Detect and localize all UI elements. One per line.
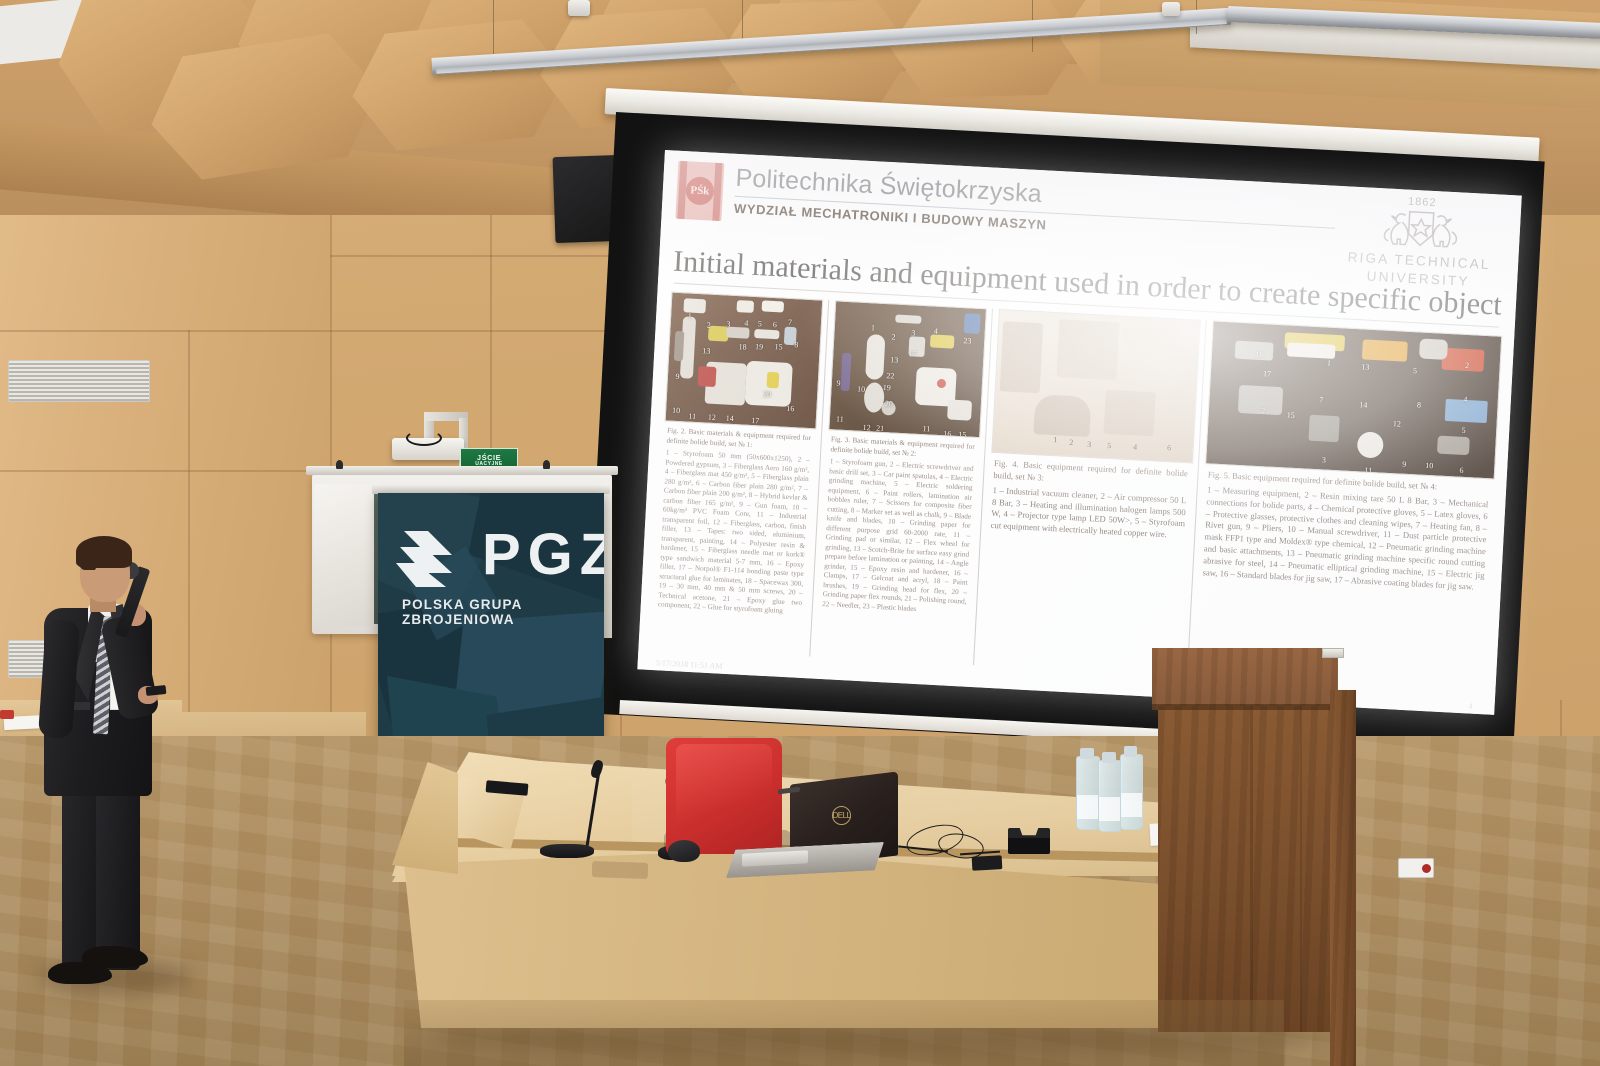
- figure-caption-4: Fig. 5. Basic equipment required for def…: [1199, 464, 1492, 594]
- wall-seam: [0, 330, 640, 332]
- figure-caption-2-body: 1 – Styrofoam gun, 2 – Electric screwdri…: [822, 457, 974, 612]
- tray-knob: [336, 460, 343, 469]
- figure-caption-3: Fig. 4. Basic equipment required for def…: [987, 453, 1191, 543]
- figure-photo-2: 12 34 2317 1322 1910 920 1112 2111 1615: [828, 300, 987, 438]
- lectern-nameplate: [1322, 648, 1344, 658]
- presenter: [26, 534, 226, 1004]
- pgz-tagline: POLSKA GRUPA ZBROJENIOWA: [402, 597, 604, 627]
- dell-logo-icon: DELL: [832, 806, 851, 825]
- figure-column-1: 12 34 56 78 910 1112 1417 1620 1318 1915…: [652, 292, 821, 656]
- bottle-cap: [1102, 752, 1116, 763]
- wall-wood-column: [1330, 690, 1356, 1066]
- figure-photo-4: 1617 113 52 47 148 1215 23 119 106 5: [1205, 320, 1502, 479]
- figure-caption-4-body: 1 – Measuring equipment, 2 – Resin mixin…: [1202, 484, 1488, 591]
- presenter-leg-right: [96, 772, 140, 970]
- ceiling-hex-panel: [889, 0, 1081, 98]
- water-bottle[interactable]: [1098, 760, 1122, 832]
- figure-caption-3-body: 1 – Industrial vacuum cleaner, 2 – Air c…: [990, 485, 1186, 540]
- figure-column-4: 1617 113 52 47 148 1215 23 119 106 5 Fig…: [1194, 320, 1500, 692]
- whiteboard-tray: [306, 466, 618, 475]
- pgz-wordmark: PGZ: [482, 521, 604, 588]
- air-vent: [8, 360, 150, 402]
- presenter-shoe-right: [82, 946, 148, 968]
- lectern-seam: [1152, 704, 1340, 710]
- pgz-logo-mark-icon: [394, 529, 476, 589]
- bottle-cap: [1124, 746, 1137, 757]
- wall-power-outlet[interactable]: [1398, 858, 1434, 878]
- desk-tray-recess: [592, 861, 649, 879]
- figure-column-3: 12 35 46 Fig. 4. Basic equipment require…: [980, 309, 1199, 676]
- lectern-body: [1158, 706, 1338, 1032]
- red-object: [0, 710, 14, 719]
- psk-logo-icon: PŚk: [675, 161, 724, 221]
- desk-microphone-base[interactable]: [540, 844, 594, 858]
- presenter-sideburn: [78, 544, 96, 570]
- sprinkler-head: [568, 0, 590, 16]
- water-bottle[interactable]: [1120, 754, 1143, 830]
- projector-cables: [406, 430, 442, 446]
- rtu-crest-icon: [1361, 203, 1481, 255]
- slide-content: PŚk Politechnika Świętokrzyska WYDZIAŁ M…: [637, 150, 1521, 715]
- chair-highlight: [676, 744, 772, 848]
- outlet-indicator-icon: [1422, 864, 1431, 873]
- power-adapter: [972, 855, 1003, 871]
- rtu-logo-block: 1862: [1333, 192, 1508, 293]
- presentation-clicker[interactable]: [146, 685, 167, 696]
- slide-body: 12 34 56 78 910 1112 1417 1620 1318 1915…: [639, 291, 1515, 693]
- computer-mouse[interactable]: [668, 840, 700, 862]
- lectern-top-panel: [1152, 648, 1338, 710]
- desk-lower-shading: [404, 1000, 1284, 1066]
- figure-photo-1: 12 34 56 78 910 1112 1417 1620 1318 1915: [665, 292, 824, 430]
- sprinkler-head: [1162, 2, 1180, 16]
- psk-logo-text: PŚk: [685, 176, 714, 205]
- slide-page-number: 4: [1468, 702, 1472, 711]
- figure-caption-2: Fig. 3. Basic materials & equipment requ…: [819, 430, 978, 617]
- slide-timestamp: 5/17/2018 11:51 AM: [655, 658, 722, 671]
- bottle-cap: [1080, 748, 1094, 759]
- figure-caption-1: Fig. 2. Basic materials & equipment requ…: [655, 421, 815, 617]
- figure-column-2: 12 34 2317 1322 1910 920 1112 2111 1615 …: [816, 300, 985, 664]
- figure-photo-3: 12 35 46: [992, 309, 1201, 464]
- water-bottle[interactable]: [1076, 756, 1100, 830]
- lectern-grain: [1250, 706, 1253, 1032]
- lectern-grain: [1300, 706, 1302, 1032]
- figure-caption-1-body: 1 – Styrofoam 50 mm (50x600x1250), 2 – P…: [658, 448, 810, 614]
- projected-slide: PŚk Politechnika Świętokrzyska WYDZIAŁ M…: [637, 150, 1521, 715]
- tray-knob: [543, 460, 550, 469]
- lecture-hall-photo: PŚk Politechnika Świętokrzyska WYDZIAŁ M…: [0, 0, 1600, 1066]
